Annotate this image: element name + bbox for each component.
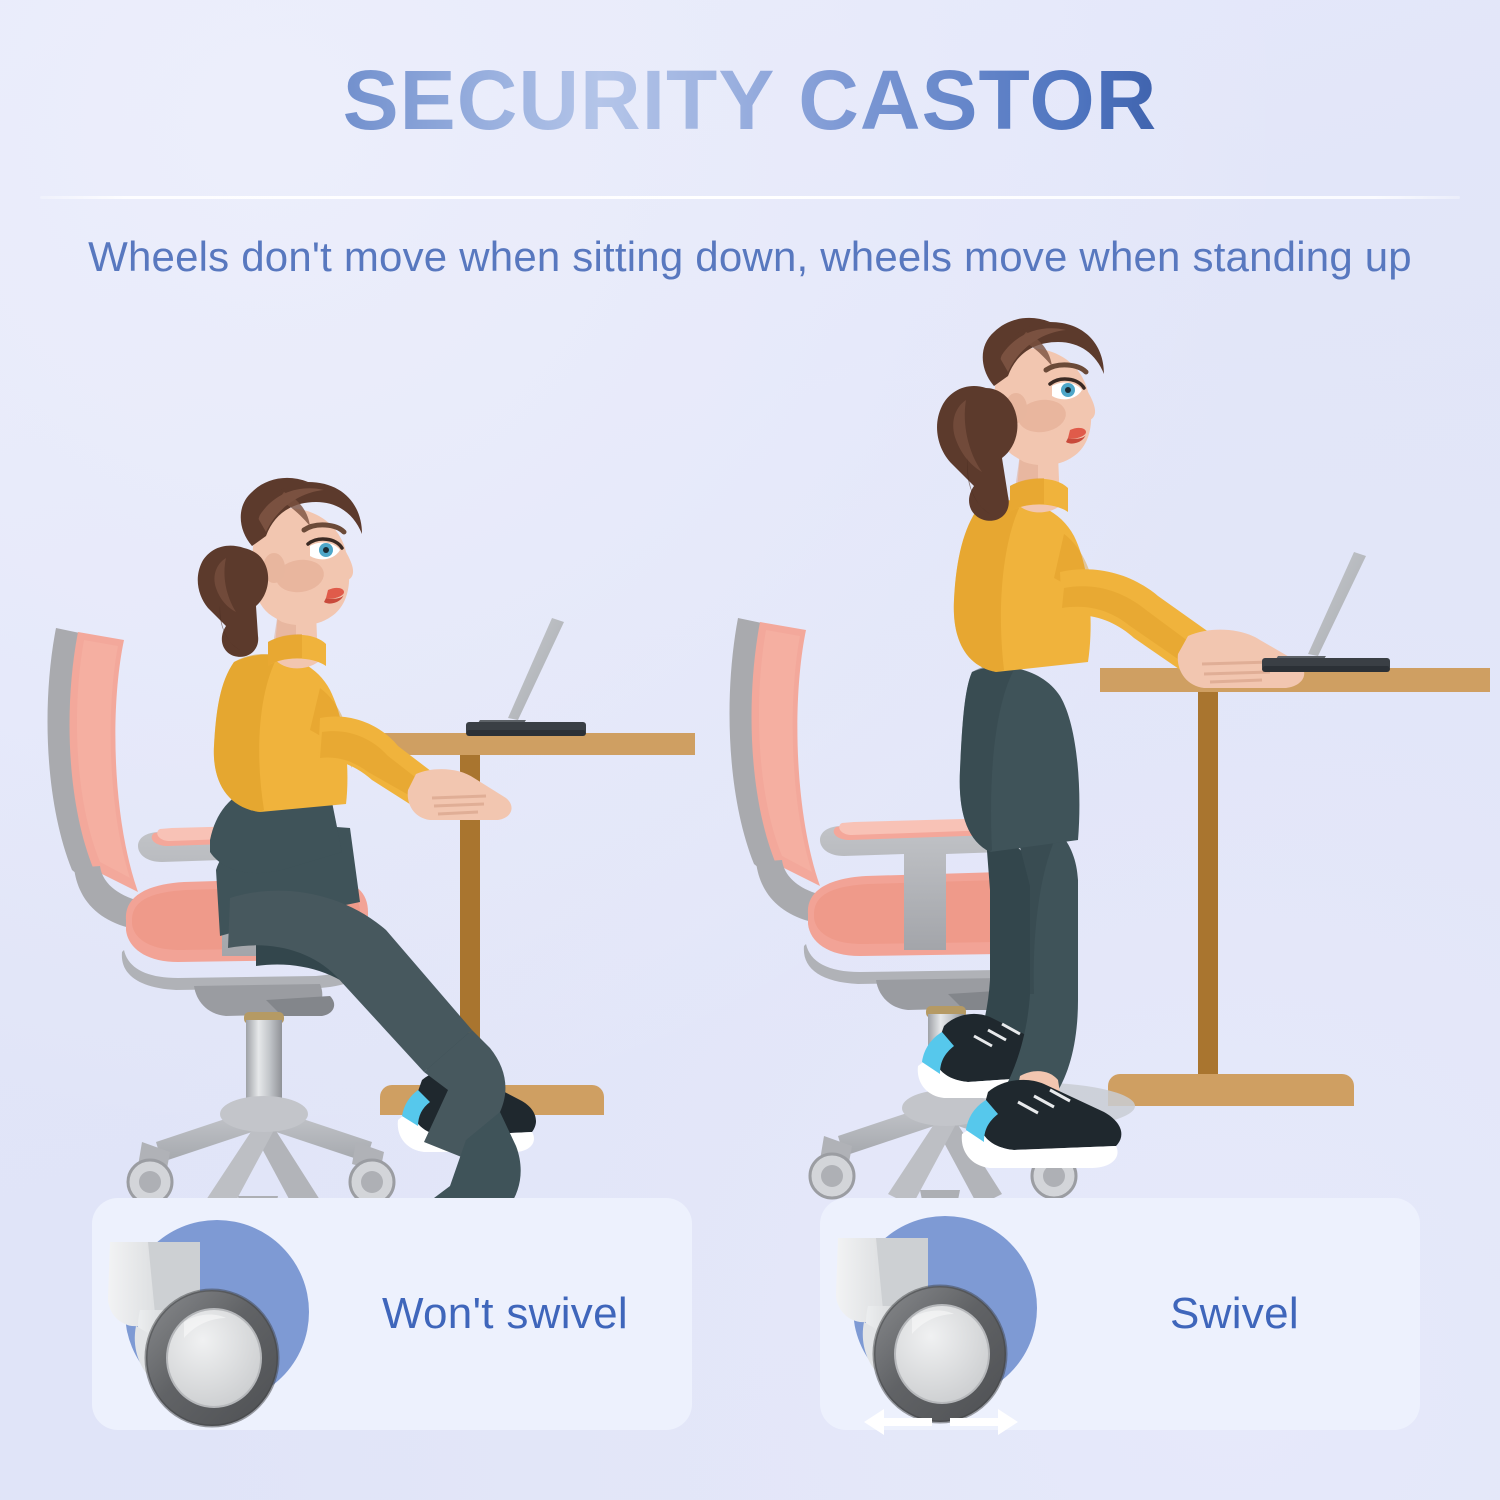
person-standing [918, 318, 1304, 1168]
hand-sitting [408, 769, 512, 820]
card-label-wont-swivel: Won't swivel [382, 1289, 628, 1339]
caster-photo-swivel [820, 1198, 1070, 1430]
caster-right-sitting [350, 1142, 394, 1204]
card-wont-swivel[interactable]: Won't swivel [92, 1198, 692, 1430]
laptop-sitting [466, 618, 586, 736]
scene-sitting [20, 400, 740, 1160]
desk-standing [1100, 668, 1490, 1106]
card-swivel[interactable]: Swivel [820, 1198, 1420, 1430]
infographic-page: SECURITY CASTOR Wheels don't move when s… [0, 0, 1500, 1500]
scene-standing [700, 400, 1500, 1160]
page-subtitle: Wheels don't move when sitting down, whe… [0, 233, 1500, 281]
caster-left-standing [810, 1136, 854, 1198]
page-title: SECURITY CASTOR [0, 58, 1500, 142]
header-divider [40, 196, 1460, 199]
caster-photo-wont-swivel [92, 1198, 342, 1430]
card-label-swivel: Swivel [1170, 1289, 1299, 1339]
